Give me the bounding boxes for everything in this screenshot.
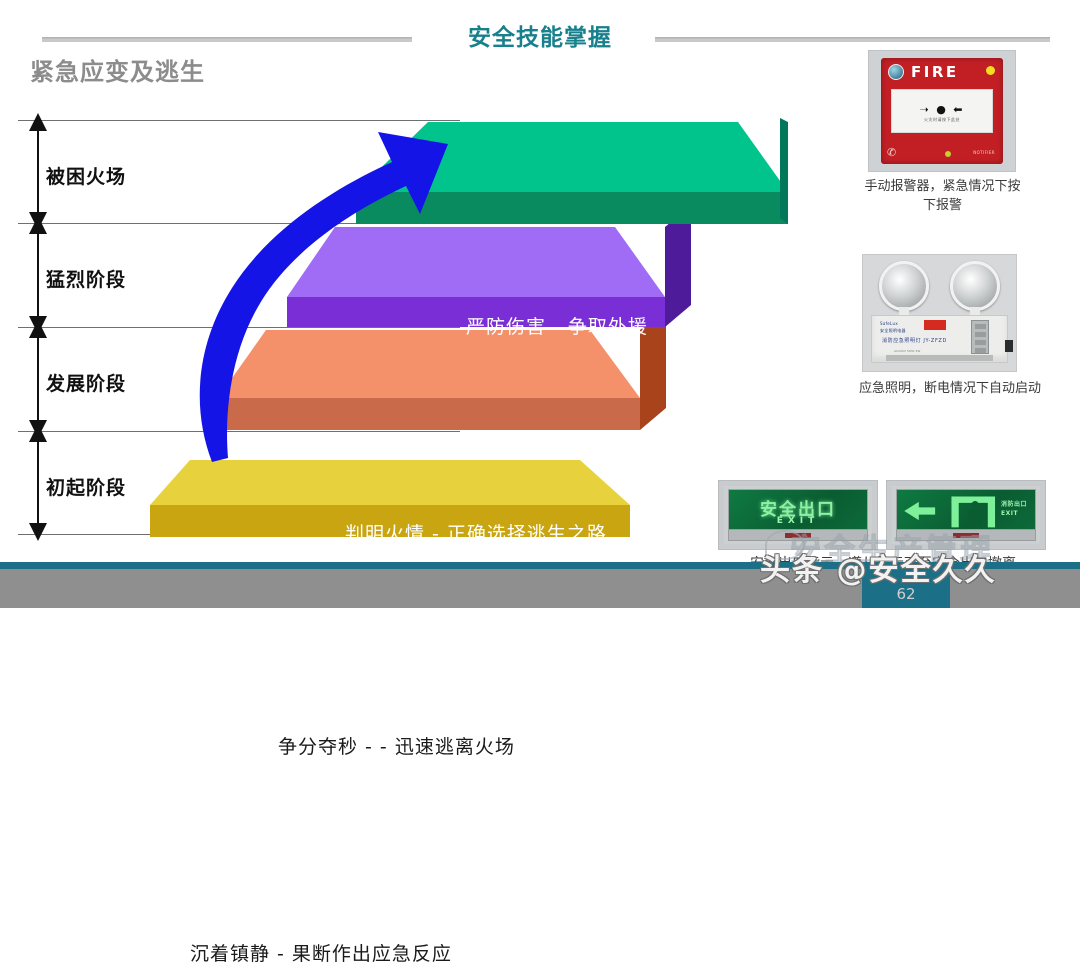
call-point-top: FIRE xyxy=(881,58,1003,88)
brand-text: NOTIFIER xyxy=(973,150,995,155)
exit-sign-side-text: 消防出口EXIT xyxy=(1001,500,1027,518)
light-side-switch xyxy=(1005,340,1013,352)
photo-caption-2: 应急照明，断电情况下自动启动 xyxy=(835,380,1065,399)
yellow-led-icon xyxy=(986,66,995,75)
watermark-main: 头条 @安全久久 xyxy=(760,545,996,589)
upward-curved-arrow-icon xyxy=(140,110,460,480)
call-point-body: FIRE ➝ ● ⬅ 火灾时请按下此处 ✆ NOTIFIER xyxy=(881,58,1003,164)
photo-manual-call-point: FIRE ➝ ● ⬅ 火灾时请按下此处 ✆ NOTIFIER xyxy=(868,50,1016,172)
fire-text: FIRE xyxy=(911,63,959,81)
light-brand-text: SafeLux安全照明电器 xyxy=(880,321,906,335)
light-model-text: 消防应急照明灯 JY-ZFZD xyxy=(882,337,947,344)
red-indicator xyxy=(924,320,946,330)
call-point-window: ➝ ● ⬅ 火灾时请按下此处 xyxy=(891,89,993,133)
light-spec-text: AC220V 50Hz 3W xyxy=(894,349,920,353)
step-label-3: 争分夺秒 - - 迅速逃离火场 xyxy=(278,732,515,759)
call-point-bottom: ✆ NOTIFIER xyxy=(887,146,997,160)
photo-emergency-light: SafeLux安全照明电器 消防应急照明灯 JY-ZFZD AC220V 50H… xyxy=(862,254,1017,372)
blue-led-icon xyxy=(888,64,904,80)
green-led-icon xyxy=(945,151,951,157)
lamp-right-icon xyxy=(950,261,1000,311)
lamp-left-icon xyxy=(879,261,929,311)
slide-canvas: 安全技能掌握 紧急应变及逃生 被困火场 猛烈阶段 发展阶段 xyxy=(0,0,1080,608)
emergency-light-base: SafeLux安全照明电器 消防应急照明灯 JY-ZFZD AC220V 50H… xyxy=(871,315,1008,363)
press-arrows-icon: ➝ ● ⬅ xyxy=(892,103,992,116)
light-switch-panel xyxy=(971,320,989,354)
light-foot xyxy=(886,355,993,361)
press-instruction-text: 火灾时请按下此处 xyxy=(892,117,992,123)
step-label-4: 沉着镇静 - 果断作出应急反应 xyxy=(190,939,452,966)
photo-caption-1: 手动报警器，紧急情况下按下报警 xyxy=(860,178,1025,216)
reference-photos: FIRE ➝ ● ⬅ 火灾时请按下此处 ✆ NOTIFIER 手动报警器，紧急情… xyxy=(700,50,1080,550)
phone-icon: ✆ xyxy=(887,146,896,159)
